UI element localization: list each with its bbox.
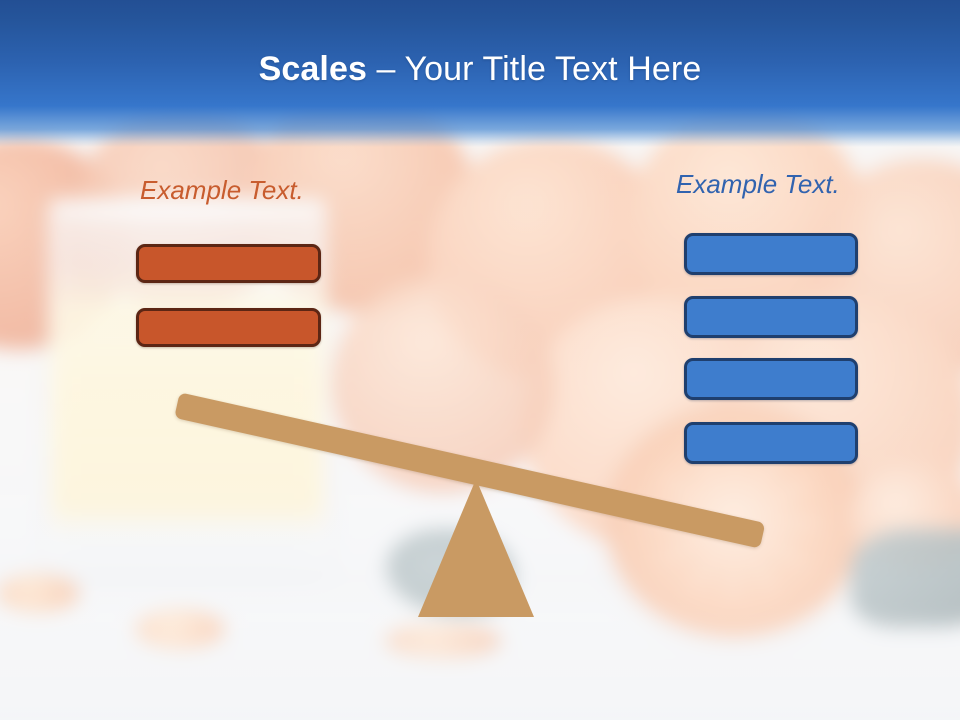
page-title: Scales – Your Title Text Here	[0, 48, 960, 90]
right-caption[interactable]: Example Text.	[676, 168, 840, 200]
page-title-bold: Scales	[259, 50, 367, 88]
left-bar-2[interactable]	[136, 308, 321, 347]
page-title-rest: – Your Title Text Here	[367, 50, 701, 88]
orange-chip-3	[385, 623, 502, 659]
right-bar-2[interactable]	[684, 296, 858, 338]
left-bar-1[interactable]	[136, 244, 321, 283]
left-caption[interactable]: Example Text.	[140, 174, 304, 206]
slide-canvas: Scales – Your Title Text Here Example Te…	[0, 0, 960, 720]
orange-chip-2	[136, 609, 225, 649]
right-bar-4[interactable]	[684, 422, 858, 464]
knife-shape	[851, 530, 960, 628]
orange-chip-1	[0, 574, 79, 612]
right-bar-3[interactable]	[684, 358, 858, 400]
scale-fulcrum-triangle	[418, 479, 534, 617]
right-bar-1[interactable]	[684, 233, 858, 275]
